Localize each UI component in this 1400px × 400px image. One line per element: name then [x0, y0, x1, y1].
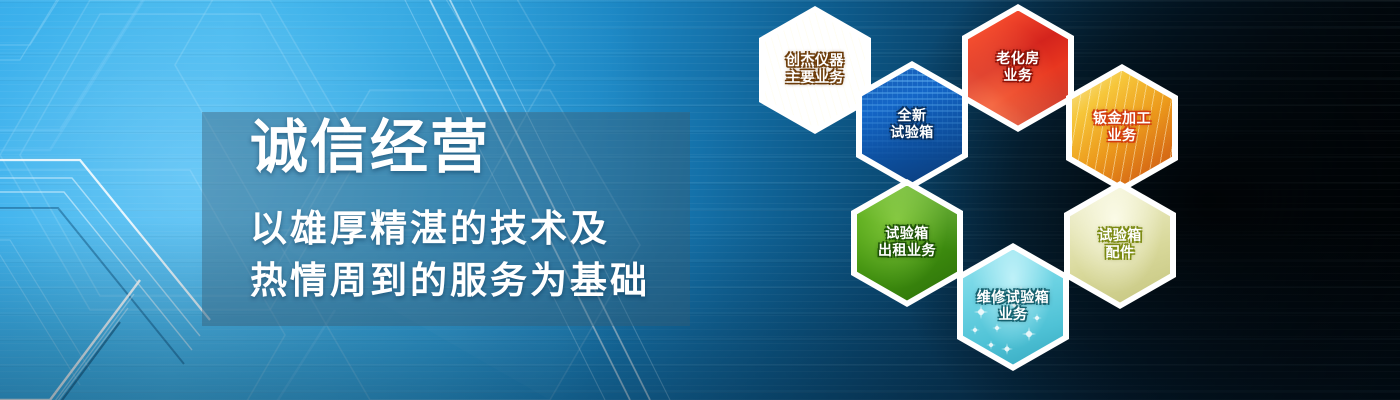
hexagon-label-aging-room: 老化房 业务 [996, 51, 1040, 85]
hexagon-fill-chamber-repair: 维修试验箱 业务 [963, 250, 1063, 365]
hexagon-label-new-test-chamber: 全新 试验箱 [890, 108, 934, 142]
hexagon-fill-new-test-chamber: 全新 试验箱 [862, 68, 962, 183]
page-title: 诚信经营 [250, 118, 490, 176]
hexagon-fill-sheet-metal: 钣金加工 业务 [1072, 71, 1172, 186]
hexagon-label-chamber-parts: 试验箱 配件 [1098, 228, 1142, 262]
promotional-banner: 诚信经营 以雄厚精湛的技术及 热情周到的服务为基础 创杰仪器 主要业务全新 试验… [0, 0, 1400, 400]
hexagon-label-sheet-metal: 钣金加工 业务 [1093, 111, 1151, 145]
hexagon-fill-chamber-rental: 试验箱 出租业务 [857, 186, 957, 301]
hexagon-label-chamber-repair: 维修试验箱 业务 [977, 290, 1050, 324]
hexagon-label-chamber-rental: 试验箱 出租业务 [878, 226, 936, 260]
hexagon-fill-chamber-parts: 试验箱 配件 [1070, 188, 1170, 303]
subtitle-line-2: 热情周到的服务为基础 [250, 262, 650, 299]
hexagon-fill-aging-room: 老化房 业务 [968, 11, 1068, 126]
hexagon-label-main-business: 创杰仪器 主要业务 [786, 53, 844, 87]
hexagon-fill-main-business: 创杰仪器 主要业务 [765, 13, 865, 128]
subtitle-line-1: 以雄厚精湛的技术及 [250, 210, 610, 247]
